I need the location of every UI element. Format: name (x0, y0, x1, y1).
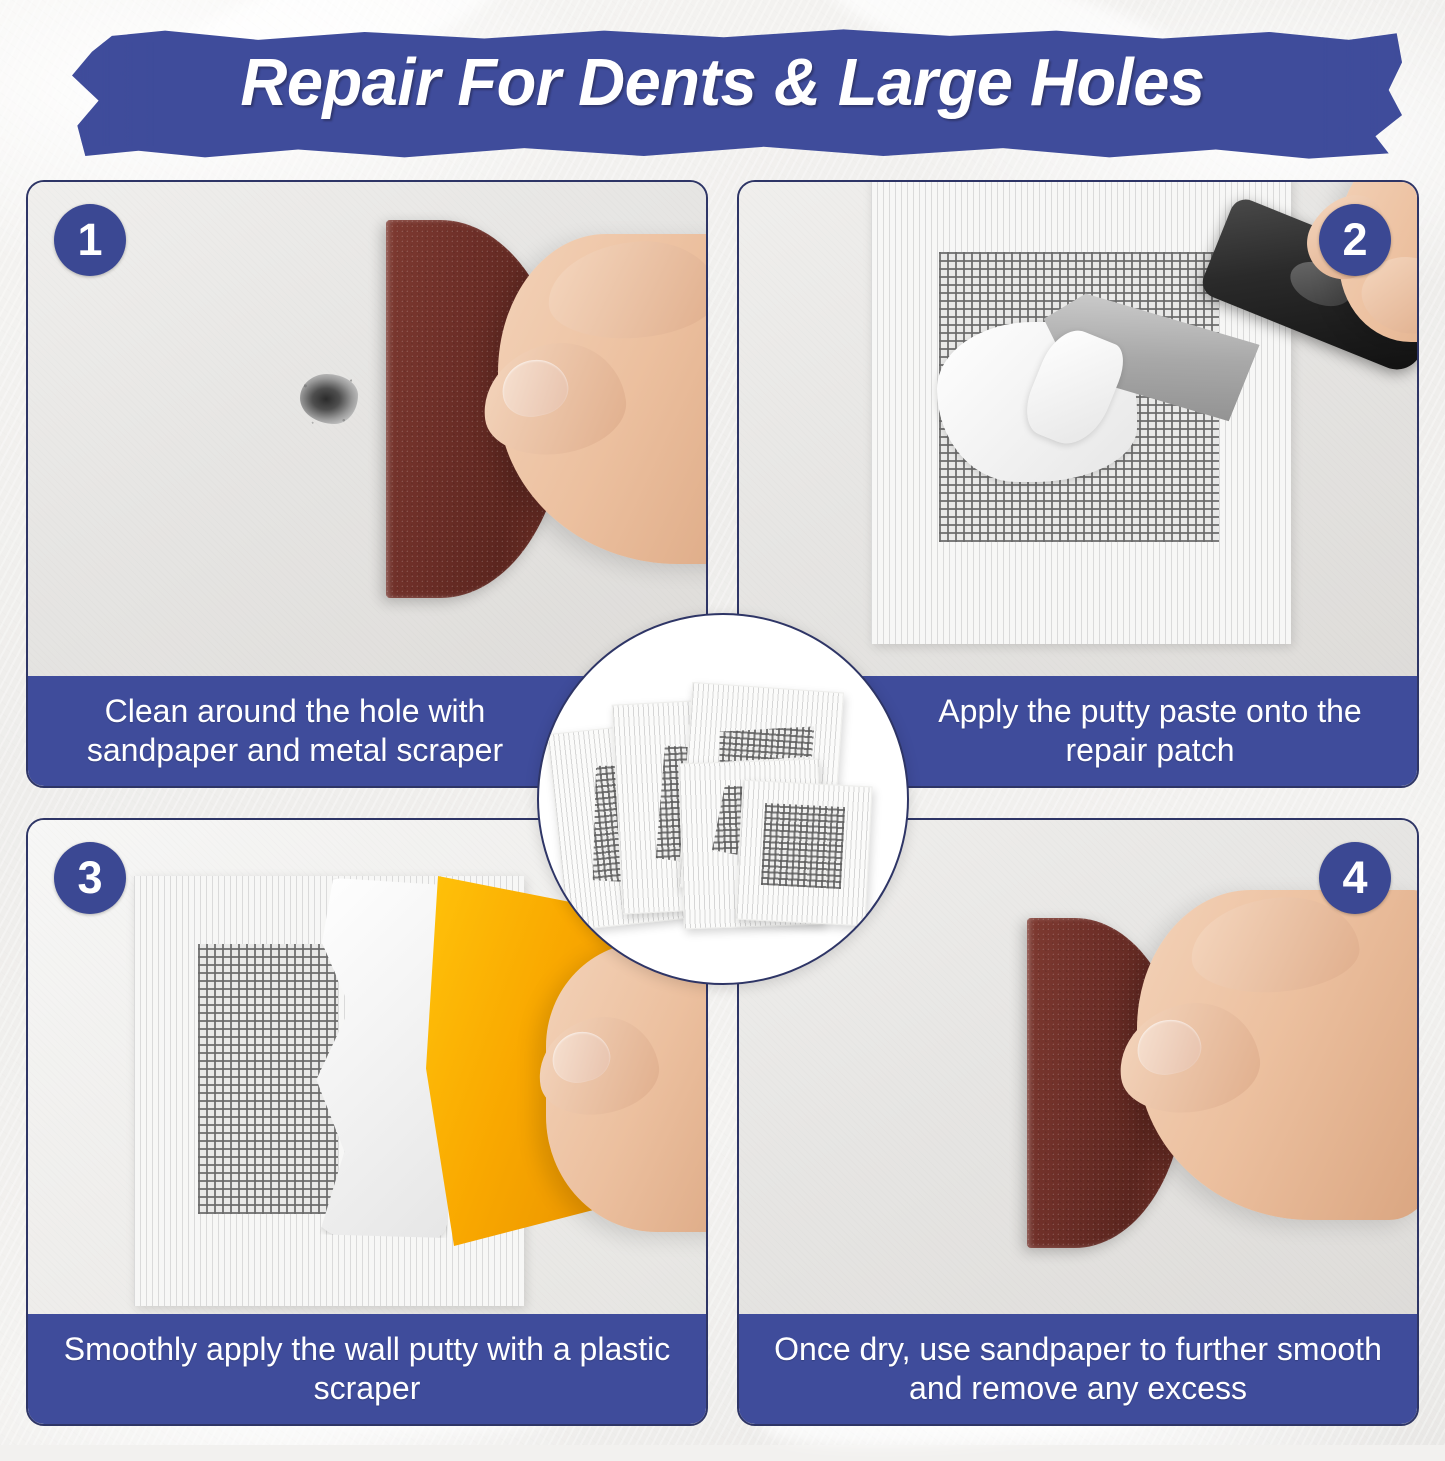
step-2-photo (739, 182, 1417, 680)
step-1-photo (28, 182, 706, 680)
step-badge-4: 4 (1319, 842, 1391, 914)
step-caption-4: Once dry, use sandpaper to further smoot… (739, 1314, 1417, 1424)
step-badge-3: 3 (54, 842, 126, 914)
page-header: Repair For Dents & Large Holes (0, 0, 1445, 175)
step-caption-3: Smoothly apply the wall putty with a pla… (28, 1314, 706, 1424)
step-badge-1: 1 (54, 204, 126, 276)
product-inset-circle (537, 613, 909, 985)
step-badge-2: 2 (1319, 204, 1391, 276)
inset-mesh-area-5 (761, 803, 845, 889)
wall-hole (300, 374, 358, 424)
page-title: Repair For Dents & Large Holes (22, 36, 1424, 130)
